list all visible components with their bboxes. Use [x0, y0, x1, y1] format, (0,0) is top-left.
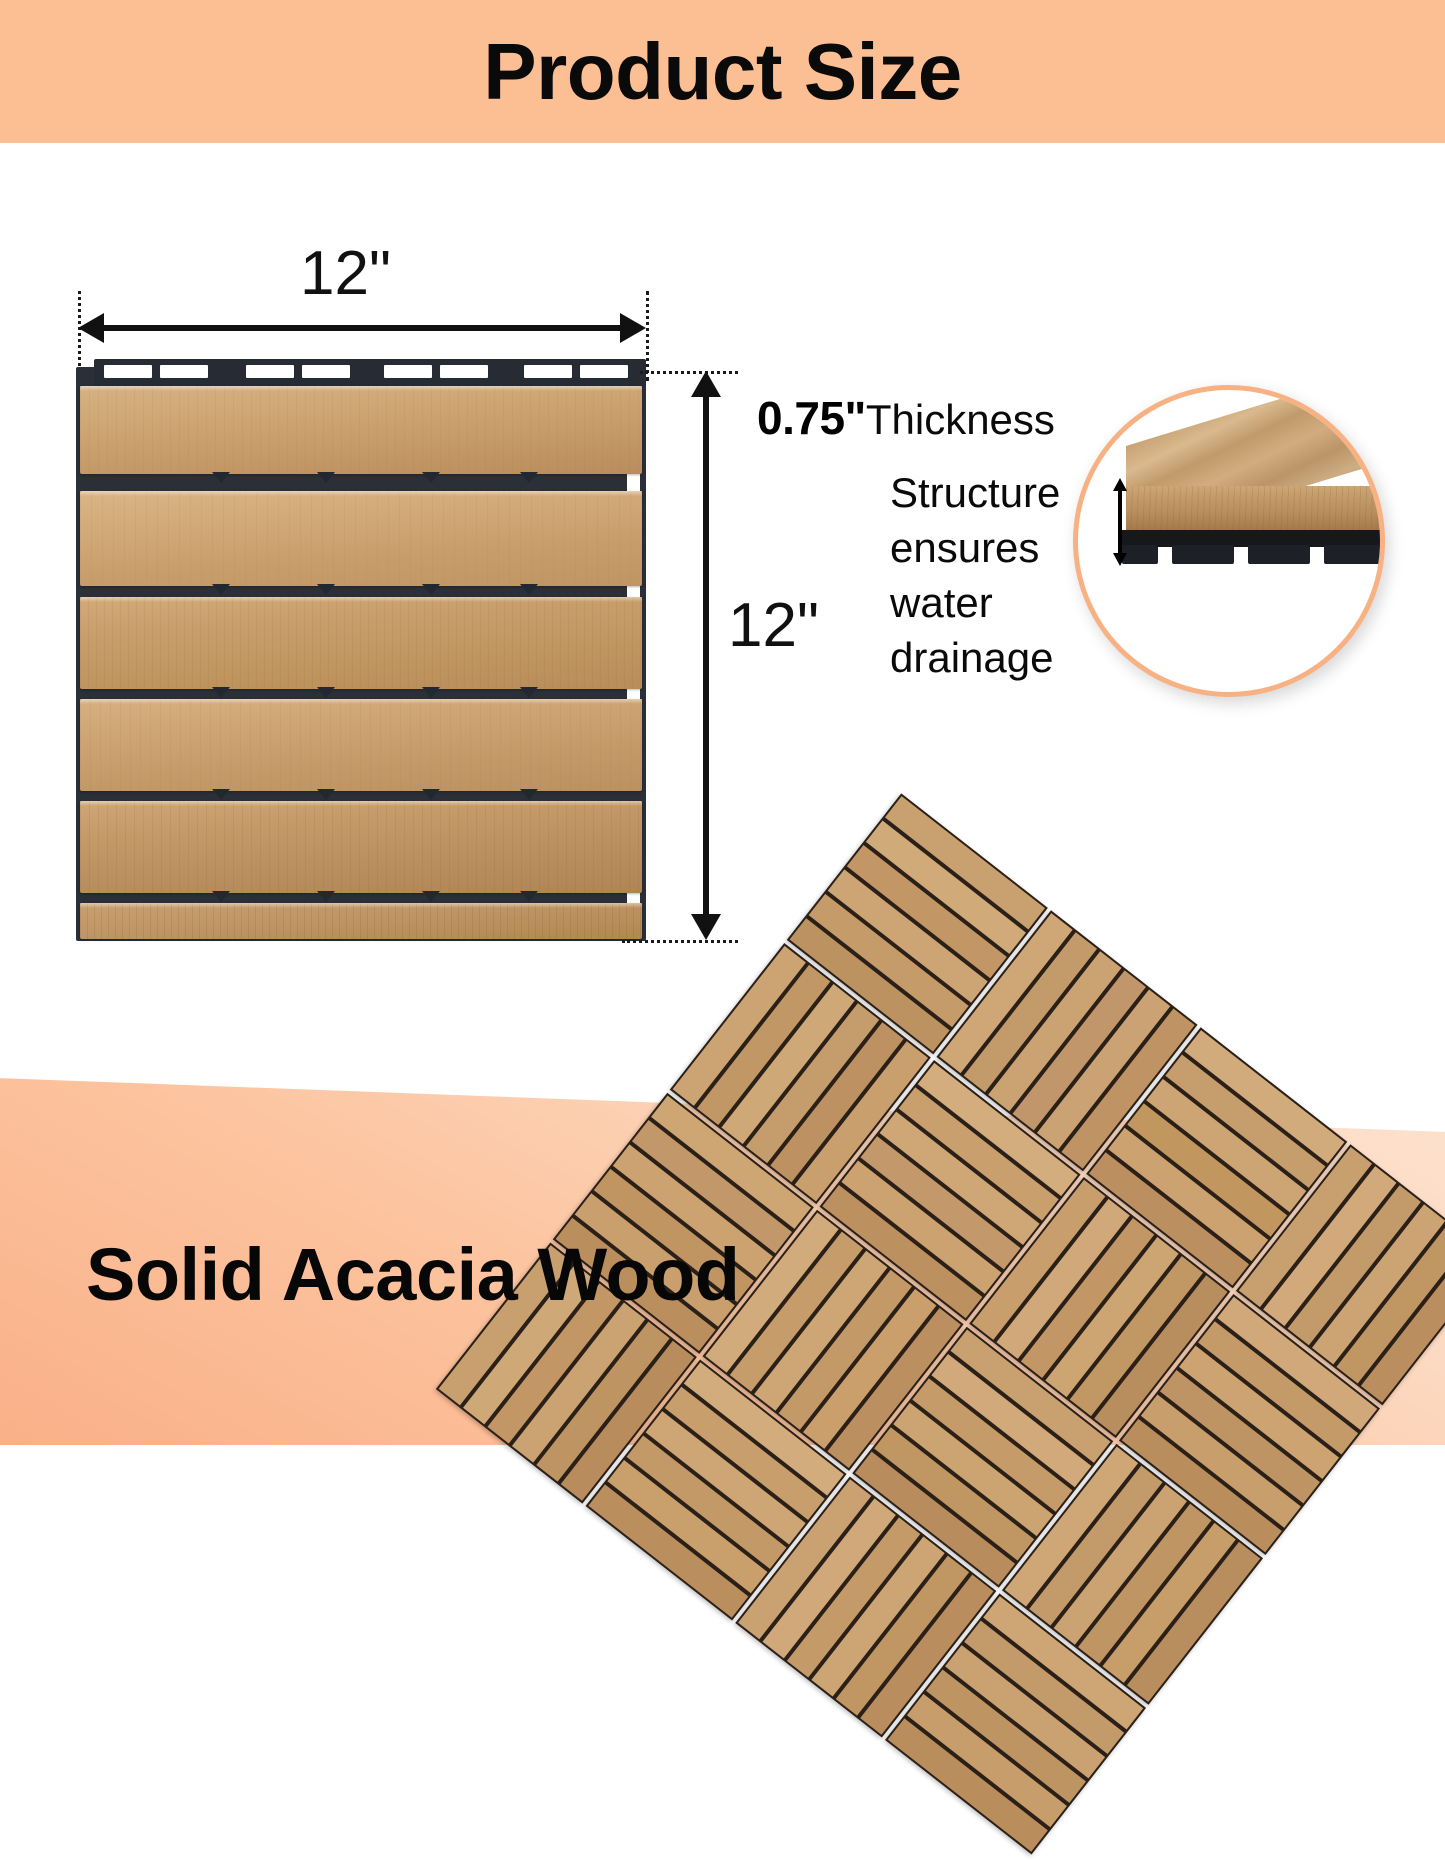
arrow-head-down [1113, 553, 1127, 566]
height-guide-bottom [622, 940, 738, 943]
comb-slot [440, 365, 488, 378]
thickness-callout: 0.75" Thickness [757, 391, 1055, 445]
comb-slot [580, 365, 628, 378]
comb-slot [160, 365, 208, 378]
tile-edge-face [1126, 486, 1385, 532]
width-arrow-right [620, 313, 646, 343]
width-dimension-line [96, 325, 630, 331]
height-label: 12" [728, 590, 819, 661]
comb-slot [384, 365, 432, 378]
wood-slat [80, 386, 642, 474]
height-dimension-line [703, 391, 709, 921]
thickness-arrow-icon [1113, 478, 1116, 566]
comb-slot [246, 365, 294, 378]
width-label: 12" [300, 238, 391, 309]
comb-slot [104, 365, 152, 378]
width-arrow-left [78, 313, 104, 343]
drainage-description: Structure ensures water drainage [890, 465, 1090, 685]
thickness-value: 0.75" [757, 391, 866, 445]
product-tile-top-view [72, 359, 650, 943]
comb-slot [524, 365, 572, 378]
thickness-label: Thickness [866, 396, 1055, 444]
height-arrow-up [691, 371, 721, 397]
wood-slat [80, 699, 642, 791]
wood-slat [80, 491, 642, 586]
height-arrow-down [691, 914, 721, 940]
wood-slat [80, 801, 642, 893]
width-guide-right [646, 291, 649, 381]
tile-top-comb-edge [94, 359, 646, 386]
page-title: Product Size [0, 0, 1445, 143]
plastic-foot [1122, 545, 1158, 564]
comb-slot [302, 365, 350, 378]
wood-slat [80, 597, 642, 689]
footer-title: Solid Acacia Wood [86, 1232, 740, 1317]
wood-slat [80, 903, 642, 939]
arrow-shaft [1118, 489, 1122, 555]
plastic-foot [1172, 545, 1234, 564]
plastic-foot [1248, 545, 1310, 564]
plastic-foot [1324, 545, 1382, 564]
header-banner: Product Size [0, 0, 1445, 143]
thickness-closeup-circle [1073, 385, 1385, 697]
height-guide-top [640, 371, 738, 374]
